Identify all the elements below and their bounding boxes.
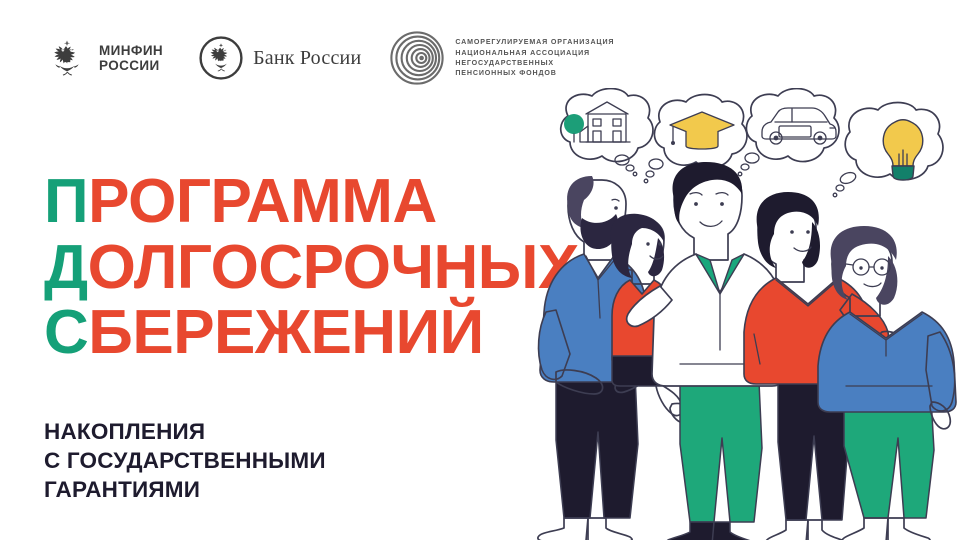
- double-headed-eagle-emblem-icon: [44, 35, 90, 81]
- car-icon: [762, 108, 836, 144]
- bearded-man-hair: [567, 176, 593, 228]
- older-woman-eye-left: [859, 266, 862, 269]
- napf-spiral-emblem-icon: [389, 30, 445, 86]
- older-woman-hair-side: [876, 256, 897, 305]
- bank-of-russia-eagle-circle-emblem-icon: [199, 36, 243, 80]
- girl-eye-left: [646, 242, 649, 245]
- girl-eye-right: [658, 242, 661, 245]
- house-with-tree-icon: [564, 102, 630, 142]
- logo-minfin: МИНФИН РОССИИ: [44, 35, 163, 81]
- bearded-man-shoe-right: [586, 518, 632, 540]
- logo-napf-label: САМОРЕГУЛИРУЕМАЯ ОРГАНИЗАЦИЯ НАЦИОНАЛЬНА…: [455, 37, 614, 78]
- older-woman-eye-right: [880, 266, 883, 269]
- man-center-eyebrow-left: [690, 193, 702, 195]
- lightbulb-icon: [883, 120, 922, 180]
- thought-bubble-house: [561, 89, 653, 176]
- headline-line-1-initial: П: [44, 167, 88, 236]
- bearded-man-shoe-left: [538, 518, 588, 540]
- man-center-hair: [673, 162, 743, 224]
- graduation-cap-icon: [670, 112, 734, 149]
- man-center-eyebrow-right: [716, 193, 728, 195]
- woman-shoe-right: [806, 520, 844, 540]
- man-center-smile: [700, 221, 722, 226]
- thought-bubble-idea: [833, 103, 943, 197]
- woman-eye-left: [790, 230, 794, 234]
- man-center-eye-left: [694, 202, 698, 206]
- headline-line-3-rest: БЕРЕЖЕНИЙ: [88, 298, 483, 367]
- subtitle: НАКОПЛЕНИЯ С ГОСУДАРСТВЕННЫМИ ГАРАНТИЯМИ: [44, 418, 326, 504]
- headline-line-1-rest: РОГРАММА: [88, 167, 437, 236]
- older-woman-smile: [864, 283, 881, 287]
- thought-bubble-car: [738, 89, 839, 176]
- bearded-man-eyebrow: [612, 199, 619, 201]
- family-illustration: .ln { fill:none; stroke:#3D3D52; stroke-…: [530, 88, 960, 540]
- woman-eye-right: [806, 230, 810, 234]
- logo-bank-rossii-label: Банк России: [253, 48, 361, 68]
- bearded-man-eye: [614, 206, 618, 210]
- logo-minfin-label: МИНФИН РОССИИ: [99, 43, 163, 73]
- headline-line-3: СБЕРЕЖЕНИЙ: [44, 303, 579, 363]
- headline-line-2: ДОЛГОСРОЧНЫХ: [44, 238, 579, 298]
- older-woman-shoe-right: [886, 518, 930, 540]
- poster-canvas: МИНФИН РОССИИ Банк России: [0, 0, 960, 540]
- older-woman-glasses-icon: [846, 259, 890, 275]
- family-illustration-svg: .ln { fill:none; stroke:#3D3D52; stroke-…: [530, 88, 960, 540]
- woman-shoe-left: [766, 520, 808, 540]
- man-center-eye-right: [720, 202, 724, 206]
- headline: ПРОГРАММА ДОЛГОСРОЧНЫХ СБЕРЕЖЕНИЙ: [44, 172, 579, 369]
- older-woman-shoe-left: [842, 518, 888, 540]
- logo-bar: МИНФИН РОССИИ Банк России: [44, 30, 614, 86]
- logo-bank-rossii: Банк России: [199, 36, 361, 80]
- headline-line-2-initial: Д: [44, 233, 88, 302]
- woman-hair-side: [802, 222, 820, 268]
- man-center-shoe-right: [712, 522, 756, 540]
- girl-leg: [656, 384, 682, 416]
- headline-line-2-rest: ОЛГОСРОЧНЫХ: [88, 233, 579, 302]
- headline-line-3-initial: С: [44, 298, 88, 367]
- logo-napf: САМОРЕГУЛИРУЕМАЯ ОРГАНИЗАЦИЯ НАЦИОНАЛЬНА…: [389, 30, 614, 86]
- headline-line-1: ПРОГРАММА: [44, 172, 579, 232]
- man-center-shoe-left: [666, 522, 714, 540]
